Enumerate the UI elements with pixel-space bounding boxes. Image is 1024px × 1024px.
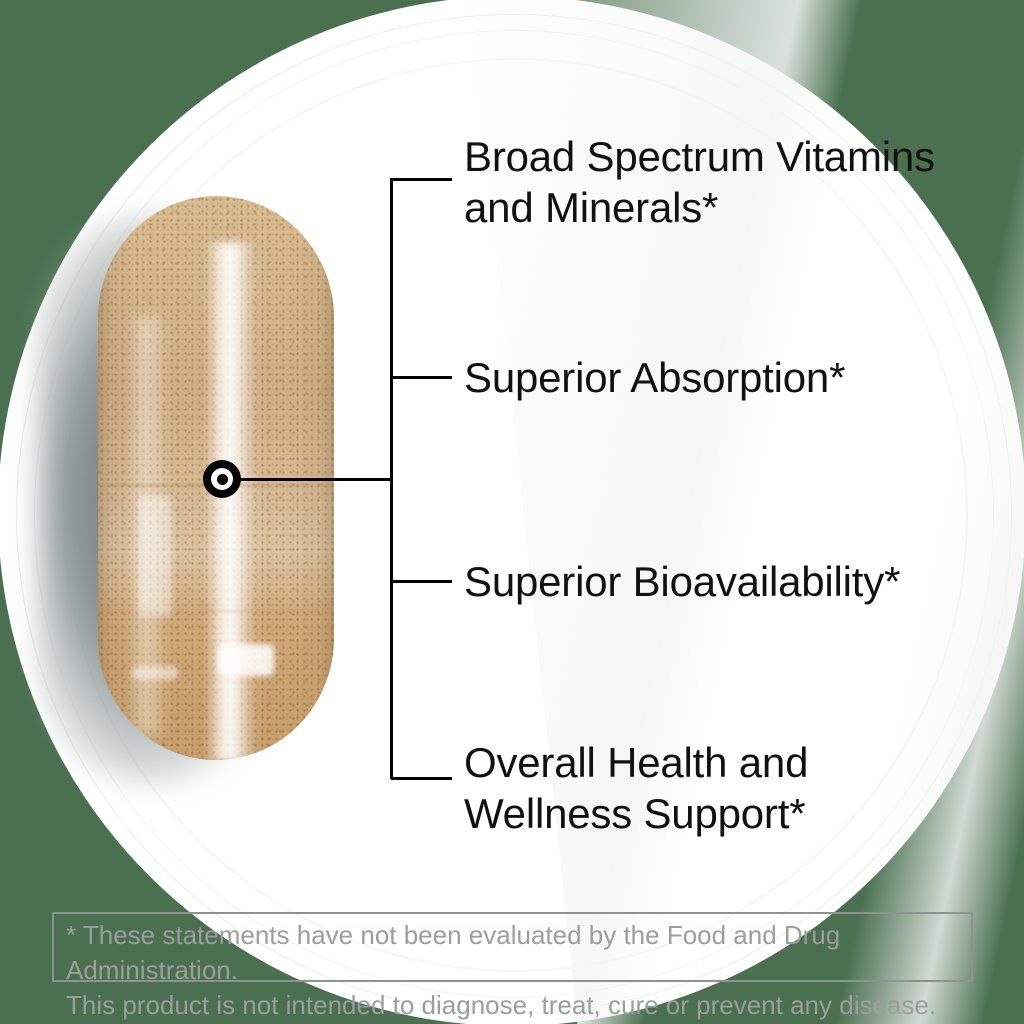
callout-label-superior-bioavailability: Superior Bioavailability* <box>464 556 900 607</box>
callout-label-overall-health: Overall Health and Wellness Support* <box>464 737 808 839</box>
product-infographic-canvas: Broad Spectrum Vitamins and Minerals* Su… <box>0 0 1024 1024</box>
callout-label-broad-spectrum: Broad Spectrum Vitamins and Minerals* <box>464 131 935 233</box>
disclaimer-text: * These statements have not been evaluat… <box>66 918 966 1023</box>
callout-label-superior-absorption: Superior Absorption* <box>464 352 845 403</box>
